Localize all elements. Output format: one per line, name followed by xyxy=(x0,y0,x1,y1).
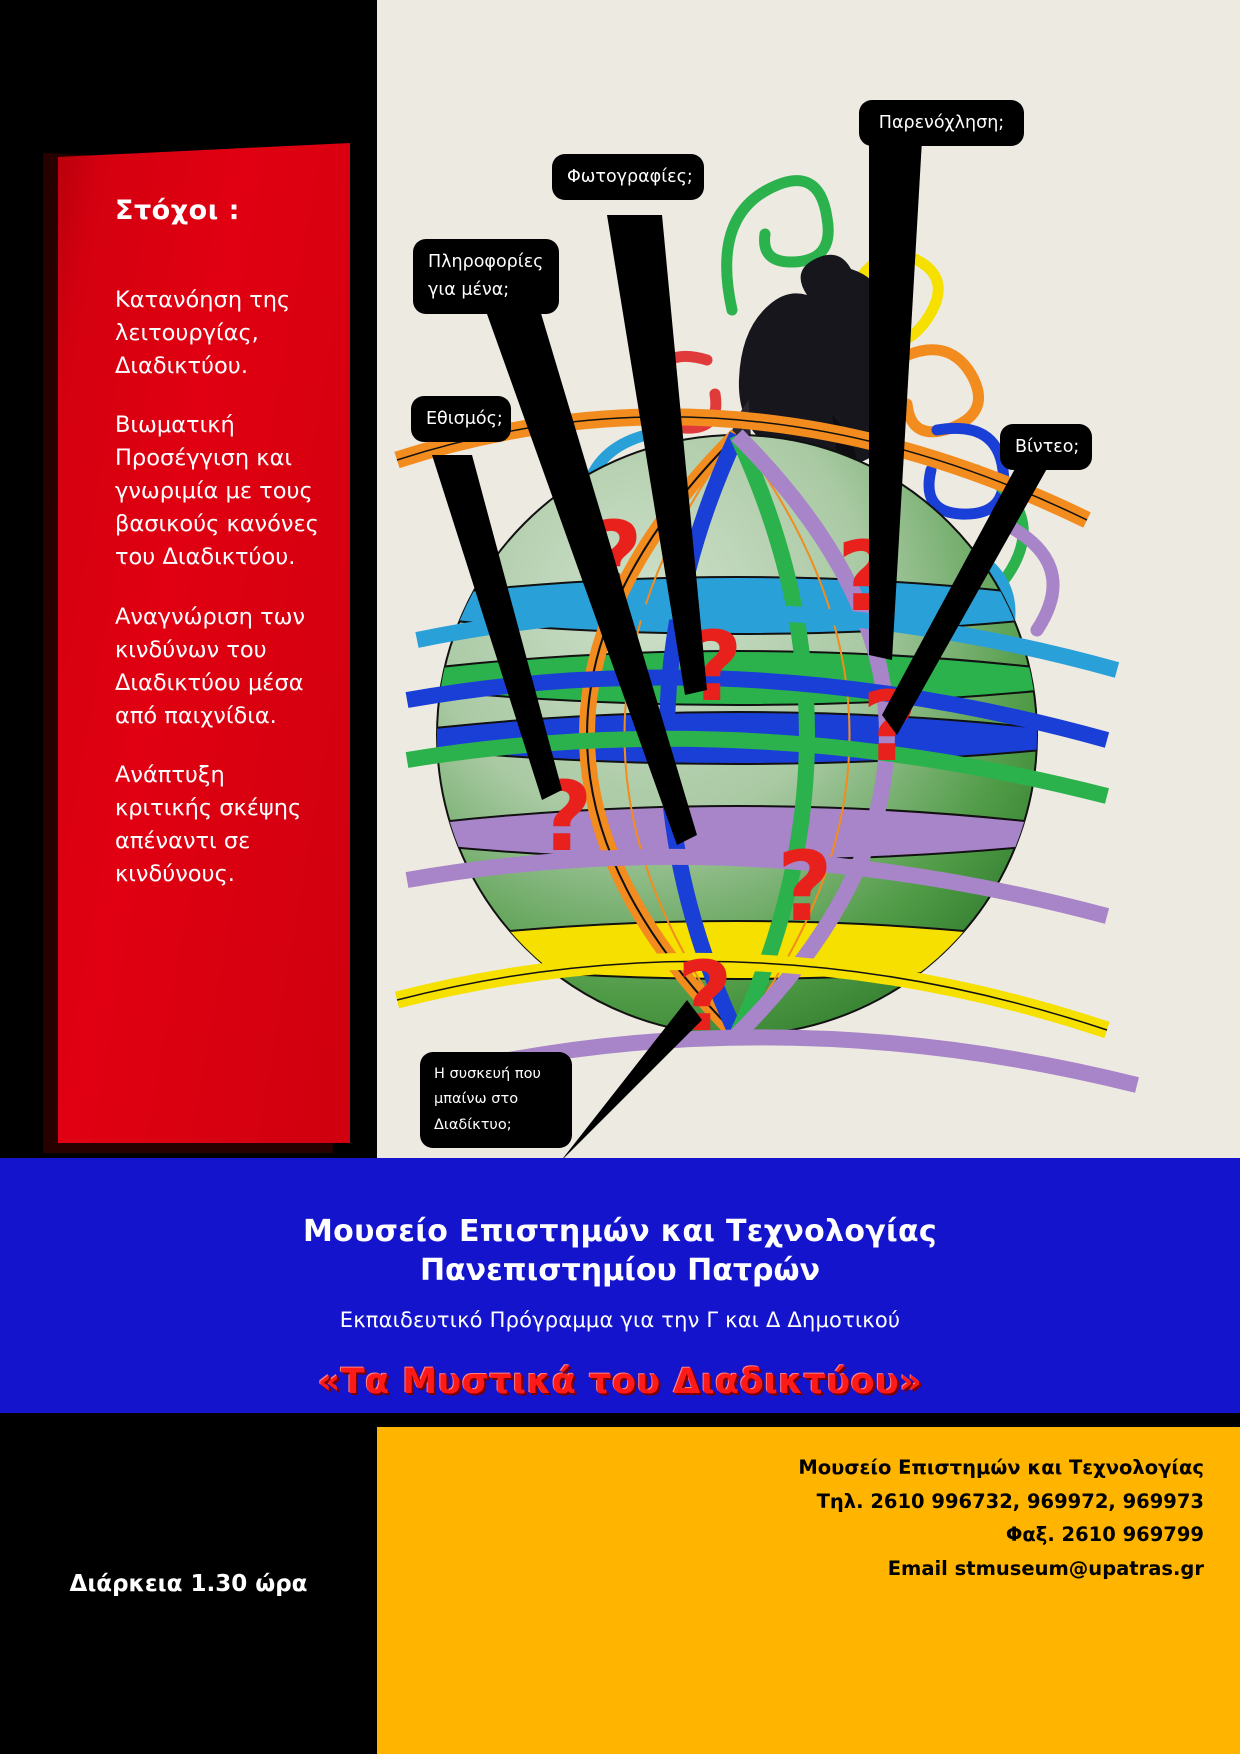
objectives-title: Στόχοι : xyxy=(115,195,322,226)
callout-video[interactable]: Βίντεο; xyxy=(1000,424,1092,470)
poster-root: ? ? ? ? ? ? ? Εθισμός; Πληρ xyxy=(0,0,1240,1754)
objectives-panel: Στόχοι : Κατανόηση της λειτουργίας, Διαδ… xyxy=(58,143,350,1143)
tail-addiction xyxy=(432,455,562,800)
program-title: «Τα Μυστικά του Διαδικτύου» xyxy=(0,1362,1240,1402)
contact-line[interactable]: Email stmuseum@upatras.gr xyxy=(377,1552,1204,1586)
callout-harassment[interactable]: Παρενόχληση; xyxy=(859,100,1024,146)
contact-line: Μουσείο Επιστημών και Τεχνολογίας xyxy=(377,1451,1204,1485)
objective-item: Ανάπτυξη κριτικής σκέψης απέναντι σε κιν… xyxy=(115,759,322,891)
callout-information[interactable]: Πληροφορίες για μένα; xyxy=(413,239,559,314)
program-description: Εκπαιδευτικό Πρόγραμμα για την Γ και Δ Δ… xyxy=(0,1308,1240,1332)
objective-item: Αναγνώριση των κινδύνων του Διαδικτύου μ… xyxy=(115,601,322,733)
contact-line: Τηλ. 2610 996732, 969972, 969973 xyxy=(377,1485,1204,1519)
objective-item: Βιωματική Προσέγγιση και γνωριμία με του… xyxy=(115,409,322,574)
callout-tails xyxy=(377,0,1240,1158)
globe-illustration: ? ? ? ? ? ? ? Εθισμός; Πληρ xyxy=(377,0,1240,1158)
callout-photos[interactable]: Φωτογραφίες; xyxy=(552,154,704,200)
objective-item: Κατανόηση της λειτουργίας, Διαδικτύου. xyxy=(115,284,322,383)
tail-video xyxy=(882,465,1049,735)
callout-device[interactable]: Η συσκευή που μπαίνω στο Διαδίκτυο; xyxy=(420,1052,572,1148)
tail-harassment xyxy=(869,140,922,660)
contact-line: Φαξ. 2610 969799 xyxy=(377,1518,1204,1552)
duration-label: Διάρκεια 1.30 ώρα xyxy=(0,1413,377,1754)
museum-name-line2: Πανεπιστημίου Πατρών xyxy=(0,1251,1240,1290)
museum-name-line1: Μουσείο Επιστημών και Τεχνολογίας xyxy=(0,1158,1240,1251)
poster-stage: ? ? ? ? ? ? ? Εθισμός; Πληρ xyxy=(0,0,1240,1158)
contact-box: Μουσείο Επιστημών και Τεχνολογίας Τηλ. 2… xyxy=(377,1427,1240,1754)
callout-addiction[interactable]: Εθισμός; xyxy=(411,396,511,442)
footer-blue-band: Μουσείο Επιστημών και Τεχνολογίας Πανεπι… xyxy=(0,1158,1240,1413)
